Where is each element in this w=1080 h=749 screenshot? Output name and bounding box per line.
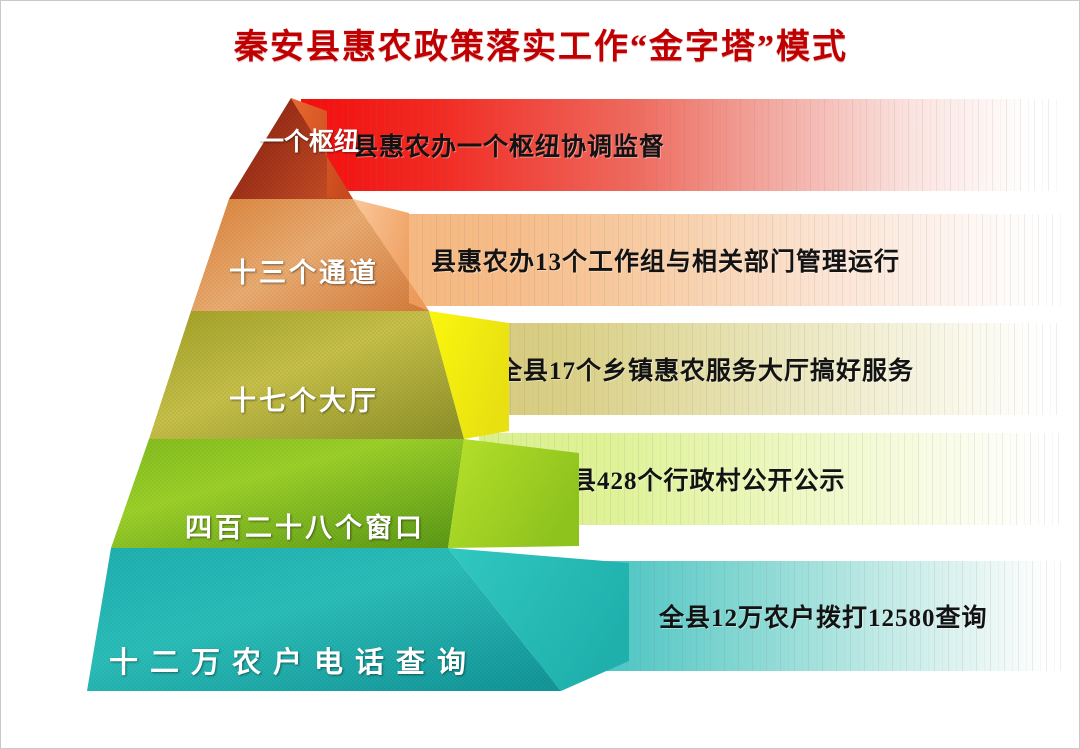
- caption-text-tier-5: 全县12万农户拨打12580查询: [659, 598, 988, 634]
- tier-3-front-face-mesh: [149, 311, 464, 439]
- caption-text-tier-4: 全县428个行政村公开公示: [545, 461, 846, 497]
- pyramid-tier-3[interactable]: [149, 311, 509, 439]
- pyramid-label-tier-4: 四百二十八个窗口: [185, 506, 425, 545]
- page-title: 秦安县惠农政策落实工作“金字塔”模式: [1, 19, 1080, 68]
- caption-text-tier-2: 县惠农办13个工作组与相关部门管理运行: [431, 242, 900, 278]
- caption-text-tier-3: 全县17个乡镇惠农服务大厅搞好服务: [497, 351, 914, 387]
- caption-text-tier-1: 县惠农办一个枢纽协调监督: [353, 127, 665, 163]
- caption-band-tier-3[interactable]: 全县17个乡镇惠农服务大厅搞好服务: [421, 323, 1061, 415]
- pyramid-label-tier-3: 十七个大厅: [229, 379, 379, 418]
- caption-band-tier-1[interactable]: 县惠农办一个枢纽协调监督: [301, 99, 1061, 191]
- diagram-canvas: 秦安县惠农政策落实工作“金字塔”模式 县惠农办一个枢纽协调监督 县惠农办13个工…: [0, 0, 1080, 749]
- pyramid-label-tier-5: 十二万农户电话查询: [109, 639, 478, 681]
- pyramid-label-tier-2: 十三个通道: [229, 251, 379, 290]
- pyramid-label-tier-1: 一个枢纽: [259, 129, 317, 156]
- tier-4-side-face: [448, 439, 579, 548]
- caption-band-tier-2[interactable]: 县惠农办13个工作组与相关部门管理运行: [361, 214, 1061, 306]
